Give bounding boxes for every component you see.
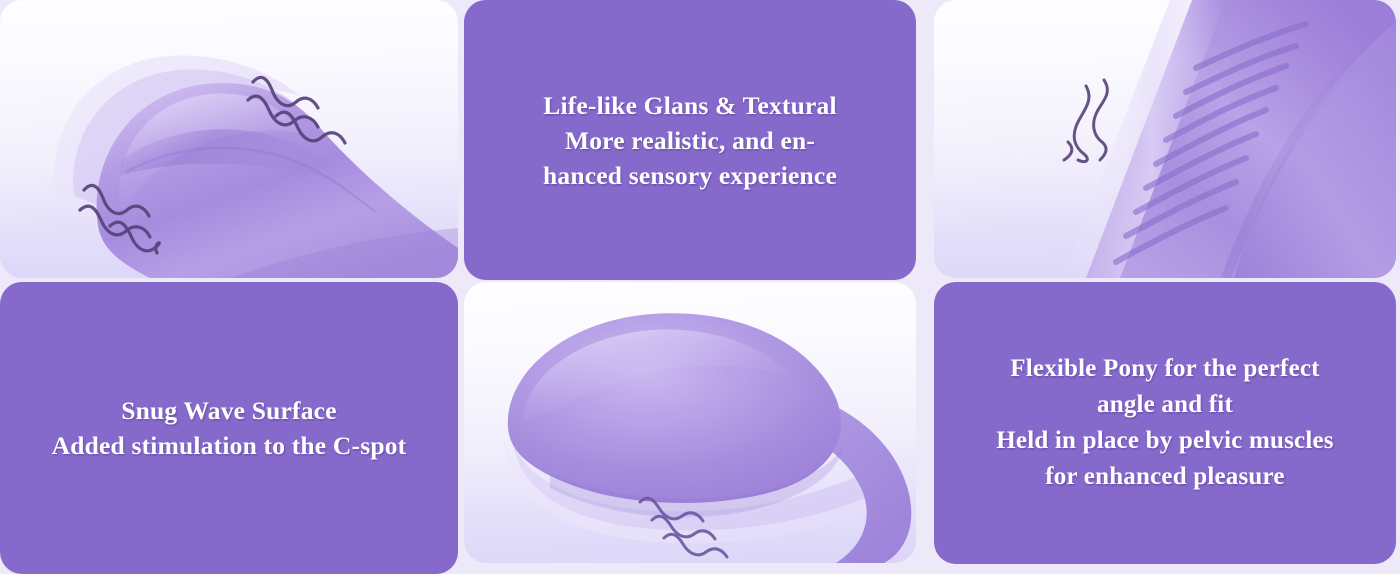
vibration-wave-icon	[464, 282, 916, 563]
panel-bottom-right[interactable]: Flexible Pony for the perfect angle and …	[934, 282, 1396, 564]
feature-grid: Life-like Glans & Textural More realisti…	[0, 0, 1400, 574]
grid-cell-bottom-center	[460, 280, 930, 574]
vibration-wave-icon	[0, 0, 458, 278]
grid-cell-bottom-right: Flexible Pony for the perfect angle and …	[930, 280, 1400, 574]
grid-cell-top-right	[930, 0, 1400, 280]
panel-top-left	[0, 0, 458, 278]
panel-top-center[interactable]: Life-like Glans & Textural More realisti…	[464, 0, 916, 280]
panel-bottom-center	[464, 282, 916, 563]
panel-top-center-caption: Life-like Glans & Textural More realisti…	[517, 88, 863, 193]
grid-cell-top-left	[0, 0, 460, 280]
panel-bottom-left[interactable]: Snug Wave Surface Added stimulation to t…	[0, 282, 458, 574]
vibration-wave-icon	[934, 0, 1396, 278]
grid-cell-top-center: Life-like Glans & Textural More realisti…	[460, 0, 930, 280]
panel-bottom-right-caption: Flexible Pony for the perfect angle and …	[970, 351, 1359, 495]
panel-top-right	[934, 0, 1396, 278]
grid-cell-bottom-left: Snug Wave Surface Added stimulation to t…	[0, 280, 460, 574]
panel-bottom-left-caption: Snug Wave Surface Added stimulation to t…	[26, 393, 433, 463]
